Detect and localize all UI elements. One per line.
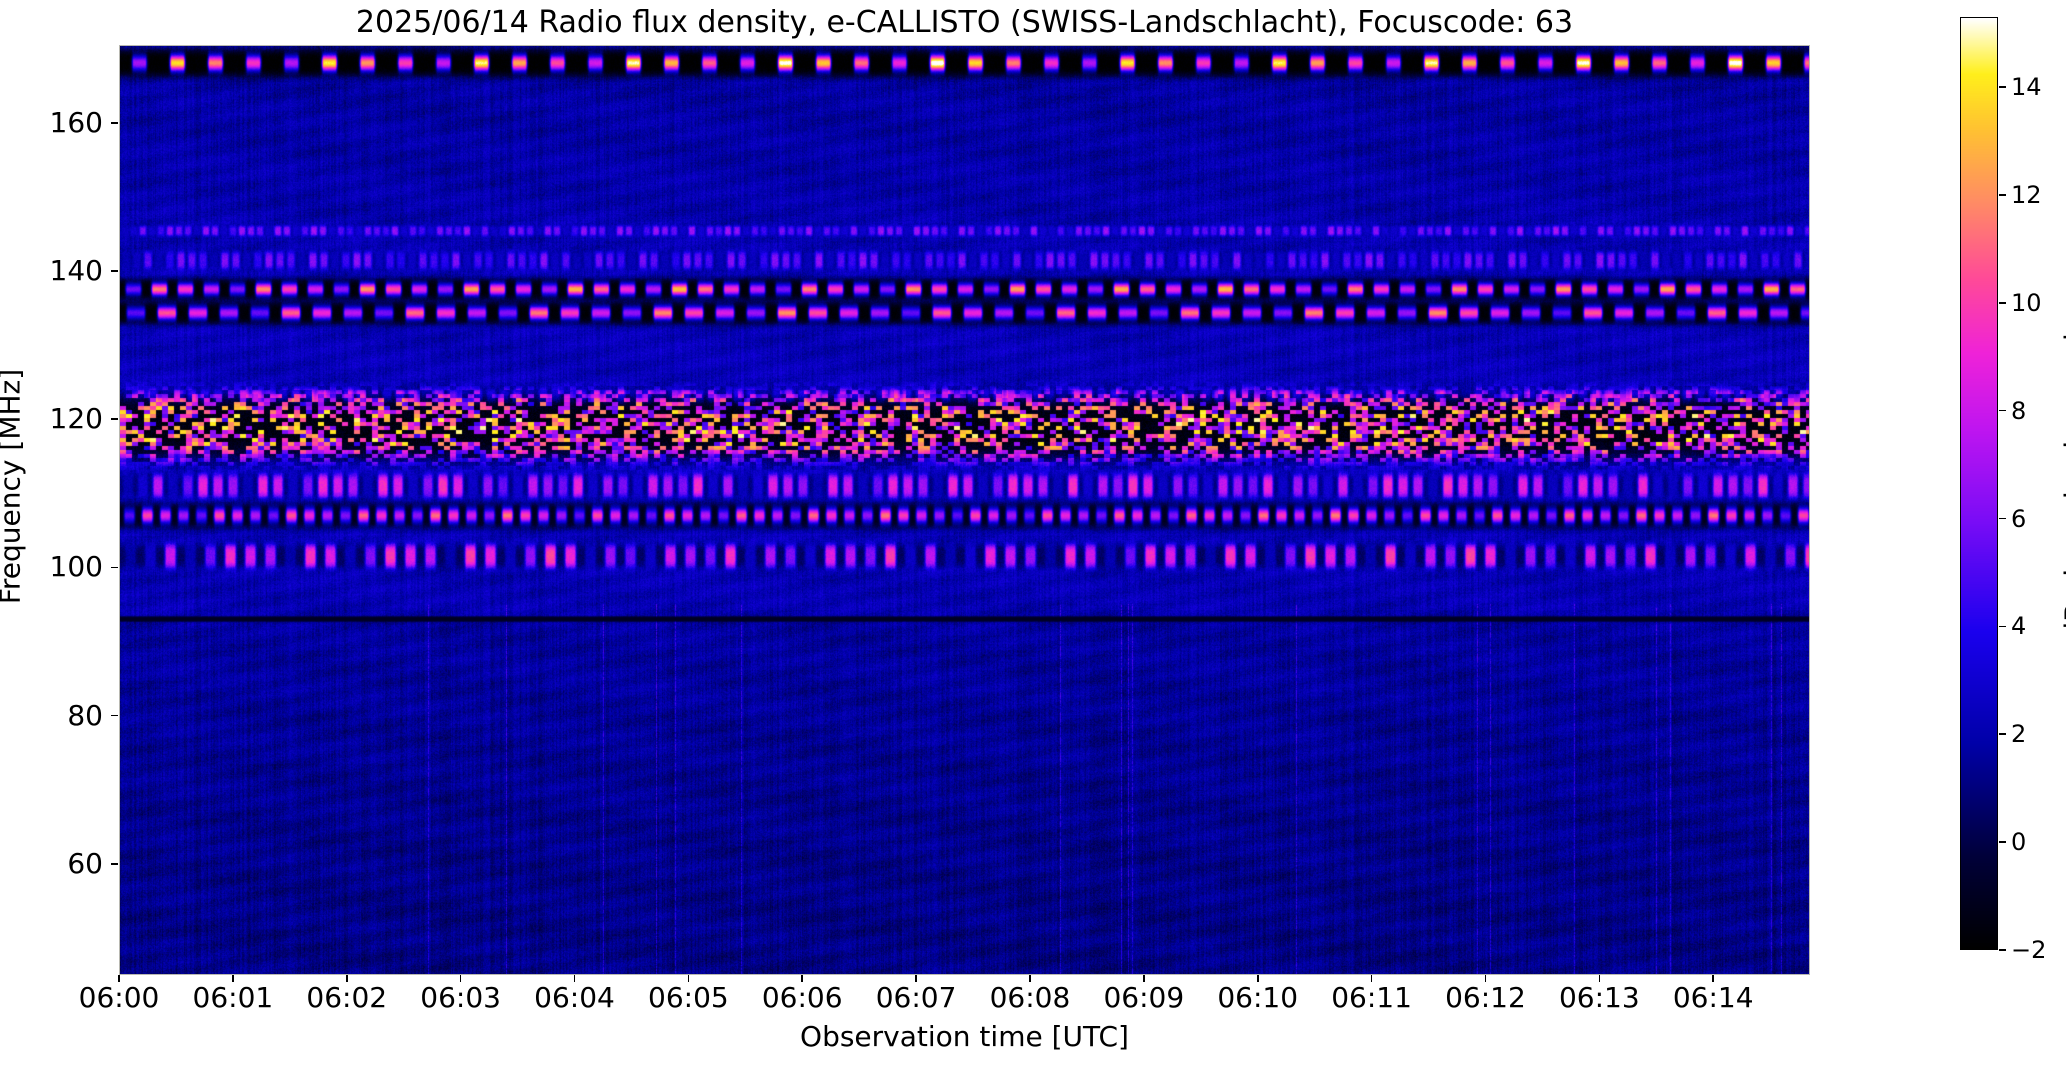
colorbar-label: dB above background [2059, 187, 2066, 787]
colorbar-tick-mark [1999, 733, 2006, 735]
colorbar-tick-mark [1999, 949, 2006, 951]
y-tick-mark [111, 270, 118, 272]
colorbar-gradient [1961, 18, 1997, 949]
colorbar[interactable] [1960, 17, 1998, 950]
colorbar-tick-mark [1999, 518, 2006, 520]
colorbar-tick-mark [1999, 194, 2006, 196]
colorbar-tick-label: −2 [2011, 938, 2066, 962]
x-tick-mark [1257, 975, 1259, 982]
x-tick-mark [118, 975, 120, 982]
x-tick-mark [1485, 975, 1487, 982]
colorbar-tick-mark [1999, 841, 2006, 843]
y-tick-mark [111, 418, 118, 420]
y-tick-mark [111, 715, 118, 717]
spectrogram-plot-area[interactable] [119, 45, 1810, 975]
x-tick-mark [915, 975, 917, 982]
spectrogram-image [120, 46, 1809, 974]
colorbar-tick-mark [1999, 86, 2006, 88]
x-tick-mark [232, 975, 234, 982]
x-tick-mark [1029, 975, 1031, 982]
x-tick-mark [688, 975, 690, 982]
x-tick-mark [801, 975, 803, 982]
colorbar-tick-label: 0 [2011, 830, 2066, 854]
x-tick-mark [460, 975, 462, 982]
y-tick-mark [111, 122, 118, 124]
x-tick-mark [1371, 975, 1373, 982]
x-tick-label: 06:14 [1633, 984, 1793, 1012]
y-tick-label: 60 [11, 850, 103, 878]
colorbar-tick-mark [1999, 410, 2006, 412]
figure-canvas: 2025/06/14 Radio flux density, e-CALLIST… [0, 0, 2066, 1067]
colorbar-tick-mark [1999, 302, 2006, 304]
x-tick-mark [346, 975, 348, 982]
x-tick-mark [1599, 975, 1601, 982]
x-tick-mark [574, 975, 576, 982]
x-tick-mark [1143, 975, 1145, 982]
y-tick-label: 160 [11, 109, 103, 137]
colorbar-tick-mark [1999, 626, 2006, 628]
x-axis-label: Observation time [UTC] [119, 1020, 1810, 1053]
x-tick-mark [1712, 975, 1714, 982]
y-tick-mark [111, 863, 118, 865]
colorbar-tick-label: 14 [2011, 75, 2066, 99]
y-tick-mark [111, 567, 118, 569]
y-axis-label: Frequency [MHz] [0, 137, 27, 837]
page-title: 2025/06/14 Radio flux density, e-CALLIST… [119, 4, 1810, 42]
